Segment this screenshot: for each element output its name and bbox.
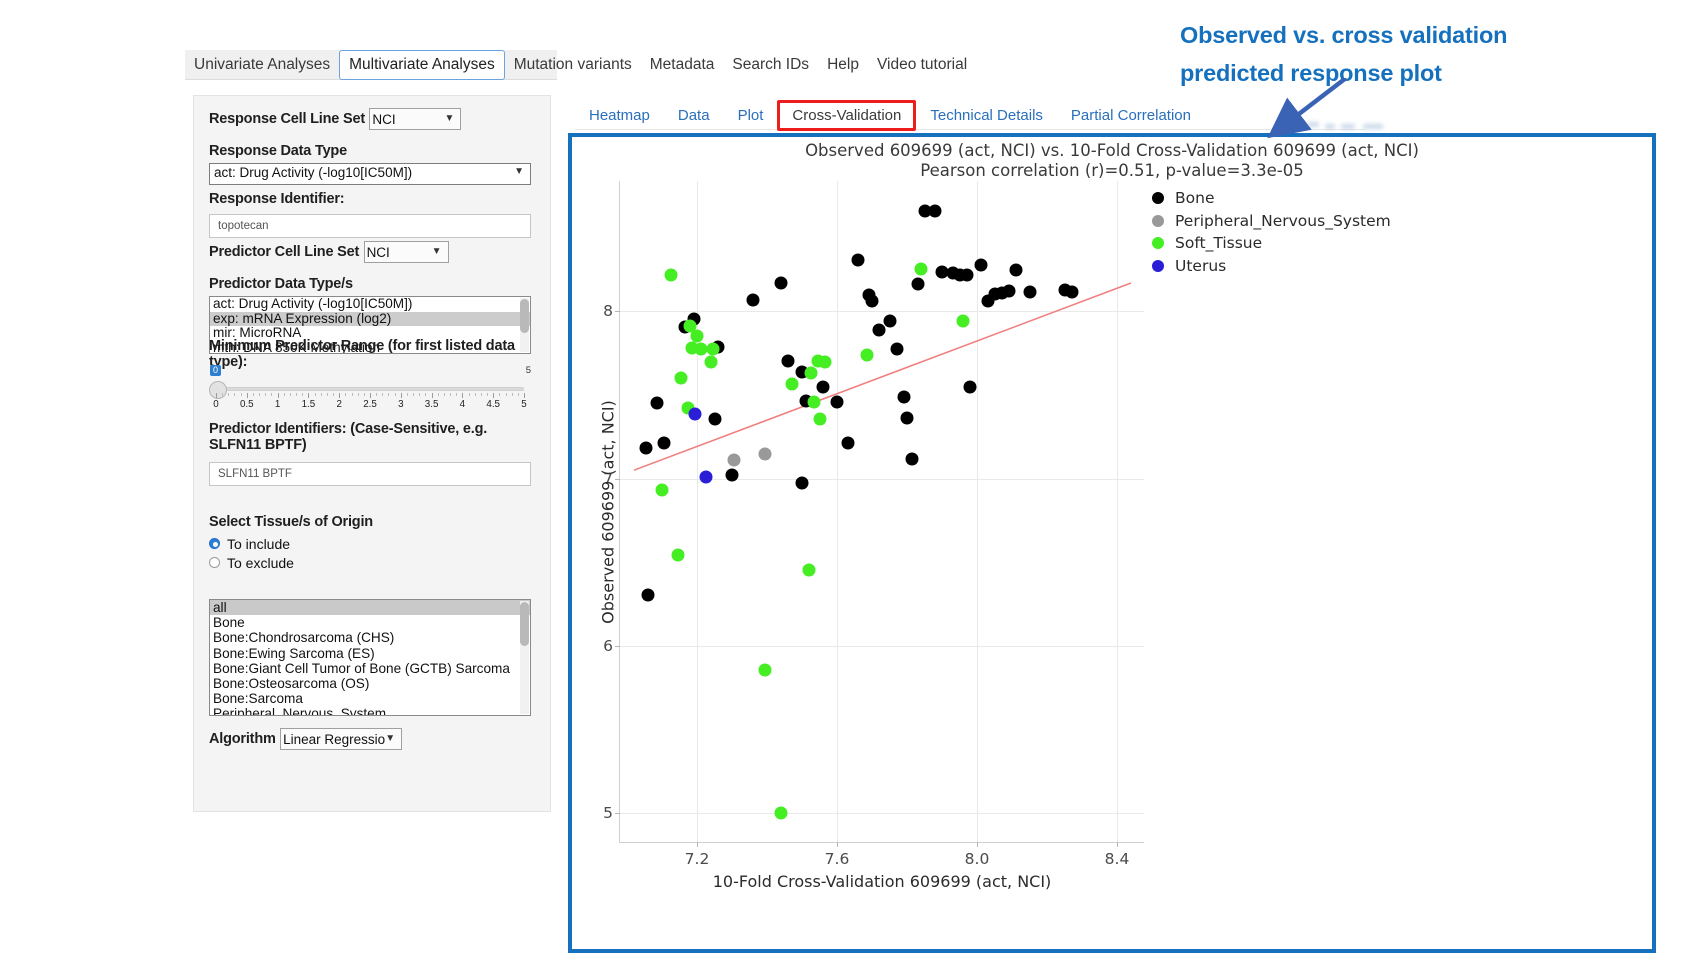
scatter-point bbox=[929, 205, 942, 218]
response-data-type-select[interactable]: act: Drug Activity (-log10[IC50M]) ▼ bbox=[209, 163, 531, 185]
response-cell-line-set-label: Response Cell Line Set bbox=[209, 111, 365, 127]
nav-tab-metadata[interactable]: Metadata bbox=[641, 51, 724, 79]
scatter-point bbox=[804, 367, 817, 380]
scatter-point bbox=[911, 277, 924, 290]
subtab-data[interactable]: Data bbox=[664, 102, 724, 129]
scatter-point bbox=[960, 269, 973, 282]
scatter-point bbox=[901, 412, 914, 425]
list-item[interactable]: all bbox=[210, 600, 530, 615]
radio-to-exclude-label: To exclude bbox=[227, 555, 294, 571]
slider-tick-label: 2.5 bbox=[363, 399, 377, 410]
y-tick-label: 8 bbox=[603, 302, 613, 320]
x-axis-label: 10-Fold Cross-Validation 609699 (act, NC… bbox=[620, 872, 1144, 891]
tissue-list-group: all Bone Bone:Chondrosarcoma (CHS) Bone:… bbox=[209, 599, 531, 716]
cross-validation-plot-panel: Observed 609699 (act, NCI) vs. 10-Fold C… bbox=[568, 133, 1656, 953]
subtab-technical-details[interactable]: Technical Details bbox=[916, 102, 1057, 129]
y-tick-label: 6 bbox=[603, 637, 613, 655]
min-predictor-range-group: Minimum Predictor Range (for first liste… bbox=[209, 338, 531, 413]
scatter-point bbox=[775, 806, 788, 819]
legend-color-swatch bbox=[1152, 237, 1164, 249]
algorithm-label: Algorithm bbox=[209, 731, 276, 747]
response-cell-line-set-select[interactable]: NCI bbox=[369, 108, 461, 130]
nav-tab-video-tutorial[interactable]: Video tutorial bbox=[868, 51, 976, 79]
main-nav-tabs: Univariate Analyses Multivariate Analyse… bbox=[185, 50, 976, 80]
y-axis-label: Observed 609699 (act, NCI) bbox=[599, 400, 618, 624]
annotation-line-2: predicted response plot bbox=[1180, 54, 1580, 92]
list-item[interactable]: act: Drug Activity (-log10[IC50M]) bbox=[210, 297, 530, 312]
algorithm-select-wrap[interactable]: Linear Regression ▼ bbox=[280, 728, 402, 750]
tissue-origin-group: Select Tissue/s of Origin To include To … bbox=[209, 514, 373, 572]
radio-button-icon[interactable] bbox=[209, 557, 220, 568]
slider-tick-label: 0.5 bbox=[240, 399, 254, 410]
algorithm-select[interactable]: Linear Regression bbox=[280, 728, 402, 750]
scatter-point bbox=[964, 380, 977, 393]
scatter-point bbox=[808, 395, 821, 408]
predictor-cell-line-set-select[interactable]: NCI bbox=[364, 241, 449, 263]
scatter-point bbox=[897, 390, 910, 403]
result-subtabs: Heatmap Data Plot Cross-Validation Techn… bbox=[575, 100, 1205, 130]
scatter-point bbox=[675, 372, 688, 385]
scatter-point bbox=[775, 276, 788, 289]
chevron-down-icon: ▼ bbox=[514, 166, 524, 177]
legend-item[interactable]: Uterus bbox=[1152, 255, 1391, 278]
slider-tick-label: 5 bbox=[521, 399, 526, 410]
scatter-point bbox=[671, 549, 684, 562]
scatter-point bbox=[817, 380, 830, 393]
list-item[interactable]: Peripheral_Nervous_System bbox=[210, 706, 530, 716]
scatter-point bbox=[796, 476, 809, 489]
response-data-type-label: Response Data Type bbox=[209, 143, 531, 159]
scatter-point bbox=[705, 356, 718, 369]
scatter-point bbox=[664, 269, 677, 282]
predictor-cell-line-set-select-wrap[interactable]: NCI ▼ bbox=[364, 241, 449, 263]
scatter-point bbox=[906, 452, 919, 465]
legend-color-swatch bbox=[1152, 215, 1164, 227]
scatter-point bbox=[974, 259, 987, 272]
list-item[interactable]: exp: mRNA Expression (log2) bbox=[210, 312, 530, 327]
slider-max-label: 5 bbox=[526, 365, 531, 376]
radio-button-icon[interactable] bbox=[209, 538, 220, 549]
slider-tick-label: 4 bbox=[460, 399, 465, 410]
nav-tab-search-ids[interactable]: Search IDs bbox=[723, 51, 818, 79]
scatter-point bbox=[1065, 286, 1078, 299]
scatter-point bbox=[640, 441, 653, 454]
scatter-point bbox=[650, 396, 663, 409]
scatter-point bbox=[727, 454, 740, 467]
scatter-point bbox=[642, 588, 655, 601]
listbox-scroll-thumb[interactable] bbox=[520, 299, 529, 333]
response-identifier-label: Response Identifier: bbox=[209, 191, 531, 207]
scatter-point bbox=[1002, 285, 1015, 298]
scatter-point bbox=[699, 470, 712, 483]
predictor-identifiers-label: Predictor Identifiers: (Case-Sensitive, … bbox=[209, 421, 531, 453]
slider-tick-label: 1 bbox=[275, 399, 280, 410]
scatter-point bbox=[694, 343, 707, 356]
scatter-point bbox=[852, 253, 865, 266]
legend-label: Peripheral_Nervous_System bbox=[1175, 212, 1391, 230]
response-cell-line-set-select-wrap[interactable]: NCI ▼ bbox=[369, 108, 461, 130]
scatter-point bbox=[708, 413, 721, 426]
legend-item[interactable]: Soft_Tissue bbox=[1152, 232, 1391, 255]
scatter-point bbox=[689, 408, 702, 421]
nav-tab-mutation-variants[interactable]: Mutation variants bbox=[505, 51, 641, 79]
nav-tab-help[interactable]: Help bbox=[818, 51, 868, 79]
slider-tick-labels: 00.511.522.533.544.55 bbox=[209, 399, 531, 413]
x-tick-mark bbox=[977, 842, 978, 847]
legend-label: Soft_Tissue bbox=[1175, 234, 1262, 252]
predictor-data-types-label: Predictor Data Type/s bbox=[209, 276, 531, 292]
min-predictor-range-slider[interactable]: 5 0 00.511.522.533.544.55 bbox=[209, 373, 531, 413]
slider-tick-label: 0 bbox=[213, 399, 218, 410]
algorithm-group: Algorithm Linear Regression ▼ bbox=[209, 728, 402, 750]
scatter-point bbox=[759, 663, 772, 676]
scatter-point bbox=[818, 355, 831, 368]
legend-item[interactable]: Bone bbox=[1152, 187, 1391, 210]
list-item[interactable]: Bone bbox=[210, 615, 530, 630]
response-data-type-group: Response Data Type act: Drug Activity (-… bbox=[209, 143, 531, 185]
annotation-arrow-icon bbox=[1258, 78, 1368, 148]
scatter-point bbox=[785, 378, 798, 391]
y-tick-mark bbox=[615, 311, 620, 312]
scatter-point bbox=[883, 314, 896, 327]
scatter-point bbox=[759, 448, 772, 461]
scatter-point bbox=[957, 314, 970, 327]
response-identifier-group: Response Identifier: bbox=[209, 191, 531, 238]
slider-tick-label: 3 bbox=[398, 399, 403, 410]
scatter-point bbox=[866, 295, 879, 308]
legend-label: Uterus bbox=[1175, 257, 1226, 275]
scatter-point bbox=[860, 348, 873, 361]
list-item[interactable]: Bone:Chondrosarcoma (CHS) bbox=[210, 630, 530, 645]
nav-tab-multivariate-analyses[interactable]: Multivariate Analyses bbox=[339, 50, 505, 80]
response-data-type-value: act: Drug Activity (-log10[IC50M]) bbox=[214, 165, 412, 180]
subtab-heatmap[interactable]: Heatmap bbox=[575, 102, 664, 129]
analysis-options-panel: Response Cell Line Set NCI ▼ Response Da… bbox=[193, 95, 551, 812]
legend-item[interactable]: Peripheral_Nervous_System bbox=[1152, 210, 1391, 233]
plot-subtitle: Pearson correlation (r)=0.51, p-value=3.… bbox=[572, 161, 1652, 180]
list-item[interactable]: Bone:Sarcoma bbox=[210, 691, 530, 706]
slider-tick-label: 1.5 bbox=[302, 399, 316, 410]
scatter-point bbox=[873, 323, 886, 336]
tissue-origin-listbox[interactable]: all Bone Bone:Chondrosarcoma (CHS) Bone:… bbox=[209, 599, 531, 716]
min-predictor-range-label: Minimum Predictor Range (for first liste… bbox=[209, 338, 531, 370]
y-tick-label: 5 bbox=[603, 804, 613, 822]
response-identifier-input[interactable] bbox=[209, 214, 531, 238]
scatter-point bbox=[747, 293, 760, 306]
radio-to-include[interactable]: To include bbox=[209, 534, 373, 553]
plot-axes: 5678 7.27.68.08.4 Observed 609699 (act, … bbox=[619, 181, 1144, 843]
scatter-point bbox=[841, 437, 854, 450]
tissue-origin-label: Select Tissue/s of Origin bbox=[209, 514, 373, 530]
radio-to-exclude[interactable]: To exclude bbox=[209, 553, 373, 572]
legend-label: Bone bbox=[1175, 189, 1214, 207]
scatter-point bbox=[813, 413, 826, 426]
scatter-point bbox=[691, 329, 704, 342]
predictor-cell-line-set-group: Predictor Cell Line Set NCI ▼ bbox=[209, 241, 449, 263]
scatter-point bbox=[915, 262, 928, 275]
scatter-point bbox=[1023, 286, 1036, 299]
y-tick-mark bbox=[615, 646, 620, 647]
subtab-plot[interactable]: Plot bbox=[724, 102, 778, 129]
predictor-identifiers-group: Predictor Identifiers: (Case-Sensitive, … bbox=[209, 421, 531, 486]
slider-tick-label: 2 bbox=[336, 399, 341, 410]
nav-tab-univariate-analyses[interactable]: Univariate Analyses bbox=[185, 51, 339, 79]
scatter-point bbox=[656, 484, 669, 497]
plot-title: Observed 609699 (act, NCI) vs. 10-Fold C… bbox=[572, 141, 1652, 160]
x-tick-mark bbox=[837, 842, 838, 847]
plot-legend: BonePeripheral_Nervous_SystemSoft_Tissue… bbox=[1152, 187, 1391, 277]
subtab-partial-correlation[interactable]: Partial Correlation bbox=[1057, 102, 1205, 129]
slider-track[interactable] bbox=[216, 387, 524, 391]
radio-to-include-label: To include bbox=[227, 536, 290, 552]
scatter-point bbox=[657, 436, 670, 449]
legend-color-swatch bbox=[1152, 260, 1164, 272]
x-tick-mark bbox=[1117, 842, 1118, 847]
scatter-point bbox=[706, 343, 719, 356]
predictor-cell-line-set-label: Predictor Cell Line Set bbox=[209, 244, 359, 260]
slider-tick-label: 4.5 bbox=[486, 399, 500, 410]
y-tick-mark bbox=[615, 813, 620, 814]
scatter-point bbox=[831, 395, 844, 408]
list-item[interactable]: Bone:Ewing Sarcoma (ES) bbox=[210, 646, 530, 661]
annotation-line-1: Observed vs. cross validation bbox=[1180, 16, 1580, 54]
response-cell-line-set-group: Response Cell Line Set NCI ▼ bbox=[209, 108, 461, 130]
scatter-plot: Observed 609699 (act, NCI) vs. 10-Fold C… bbox=[572, 137, 1652, 949]
slider-tick-label: 3.5 bbox=[425, 399, 439, 410]
scatter-point bbox=[1009, 264, 1022, 277]
slider-value-bubble: 0 bbox=[210, 365, 221, 376]
x-tick-label: 7.2 bbox=[685, 850, 710, 868]
scatter-point bbox=[726, 469, 739, 482]
x-tick-mark bbox=[697, 842, 698, 847]
subtab-cross-validation[interactable]: Cross-Validation bbox=[777, 100, 916, 131]
x-tick-label: 8.4 bbox=[1105, 850, 1130, 868]
legend-color-swatch bbox=[1152, 192, 1164, 204]
annotation-callout: Observed vs. cross validation predicted … bbox=[1180, 16, 1580, 92]
scatter-point bbox=[890, 343, 903, 356]
scatter-point bbox=[803, 563, 816, 576]
list-item[interactable]: Bone:Osteosarcoma (OS) bbox=[210, 676, 530, 691]
list-item[interactable]: Bone:Giant Cell Tumor of Bone (GCTB) Sar… bbox=[210, 661, 530, 676]
regression-trendline bbox=[620, 181, 1145, 843]
listbox-scroll-thumb[interactable] bbox=[520, 602, 529, 646]
x-tick-label: 8.0 bbox=[965, 850, 990, 868]
x-tick-label: 7.6 bbox=[825, 850, 850, 868]
scatter-point bbox=[782, 354, 795, 367]
predictor-identifiers-input[interactable] bbox=[209, 462, 531, 486]
